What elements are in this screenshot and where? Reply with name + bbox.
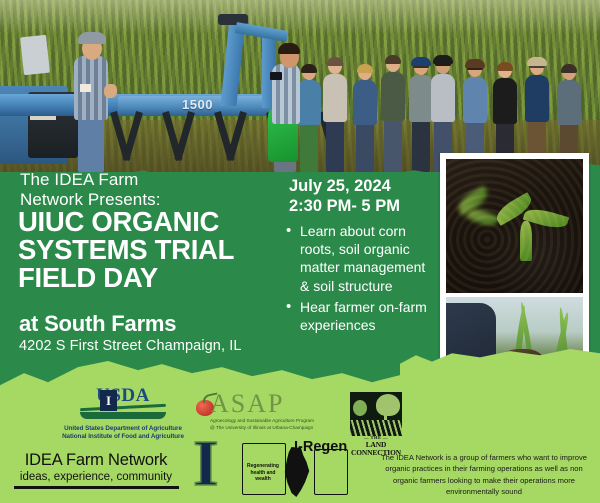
attendee-legs bbox=[300, 122, 318, 172]
attendee-cap bbox=[527, 57, 547, 66]
asap-block-i-letter: I bbox=[106, 393, 111, 409]
tree-icon bbox=[376, 394, 400, 416]
speaker-legs bbox=[78, 114, 104, 172]
plowed-field-icon bbox=[350, 420, 402, 436]
attendee-hair bbox=[301, 64, 317, 73]
event-highlight-item: Hear farmer on-farm experiences bbox=[286, 298, 436, 334]
attendee-cap bbox=[433, 55, 453, 64]
usda-agency-line2: National Institute of Food and Agricultu… bbox=[62, 433, 184, 441]
event-title: UIUC ORGANIC SYSTEMS TRIAL FIELD DAY bbox=[18, 208, 308, 292]
attendee-hair bbox=[327, 57, 343, 66]
network-description: The IDEA Network is a group of farmers w… bbox=[372, 452, 596, 498]
attendee-cap bbox=[411, 57, 431, 66]
attendee-hair bbox=[385, 55, 401, 64]
attendee-figure bbox=[352, 54, 378, 172]
presenter-intro: The IDEA Farm Network Presents: bbox=[20, 170, 270, 210]
seedling-leaf-right bbox=[523, 205, 569, 232]
attendee-figure bbox=[380, 44, 406, 172]
attendee-torso bbox=[431, 74, 455, 122]
speaker-name-badge bbox=[80, 84, 91, 92]
asap-wordmark: ASAP bbox=[196, 391, 316, 417]
indiana-outline-icon bbox=[314, 449, 348, 495]
seedling-stem bbox=[520, 221, 532, 261]
idea-farm-network-logo: IDEA Farm Network ideas, experience, com… bbox=[6, 451, 186, 489]
asap-block-i-icon: I bbox=[100, 390, 117, 411]
attendee-torso bbox=[353, 80, 377, 125]
presenter-intro-line1: The IDEA Farm bbox=[20, 170, 270, 190]
implement-shank bbox=[174, 111, 195, 161]
usda-wordmark: USDA bbox=[62, 386, 184, 405]
attendee-legs bbox=[326, 119, 344, 172]
speaker-hand bbox=[104, 84, 117, 98]
asap-logo: ASAP Agroecology and Sustainable Agricul… bbox=[196, 391, 316, 431]
event-title-line2: SYSTEMS TRIAL bbox=[18, 236, 308, 264]
venue-name: at South Farms bbox=[19, 311, 309, 337]
attendee-figure bbox=[322, 46, 348, 172]
attendee-hair bbox=[497, 62, 513, 71]
hero-photo: 1500 bbox=[0, 0, 600, 172]
idea-farm-network-tagline: ideas, experience, community bbox=[6, 471, 186, 483]
attendee-cap bbox=[465, 59, 485, 68]
attendee-torso bbox=[381, 72, 405, 121]
photographer-hair bbox=[278, 43, 300, 54]
usda-logo: USDA United States Department of Agricul… bbox=[62, 386, 184, 441]
corn-seedling-photo bbox=[446, 159, 583, 293]
seedling-leaf-blurred-a bbox=[455, 185, 492, 216]
iregen-logo: I-Regen Regenerating health and wealth bbox=[242, 437, 362, 499]
speaker-cap-icon bbox=[78, 32, 106, 44]
implement-shank bbox=[122, 111, 143, 161]
attendee-legs bbox=[384, 118, 402, 172]
attendee-hair bbox=[357, 64, 373, 73]
field-sign bbox=[20, 35, 50, 76]
attendee-torso bbox=[323, 74, 347, 122]
usda-agency-line1: United States Department of Agriculture bbox=[62, 425, 184, 433]
attendee-hair bbox=[561, 64, 577, 73]
speaker-figure bbox=[70, 22, 112, 172]
attendee-torso bbox=[463, 77, 487, 123]
idea-farm-network-title: IDEA Farm Network bbox=[6, 451, 186, 470]
poster-root: 1500 The IDEA Farm Network Presents: UIU… bbox=[0, 0, 600, 503]
attendee-torso bbox=[493, 78, 517, 124]
photographer-figure bbox=[268, 22, 302, 172]
attendee-legs bbox=[356, 122, 374, 172]
attendee-legs bbox=[412, 120, 430, 172]
divider-rule bbox=[14, 486, 179, 489]
event-highlights-list: Learn about corn roots, soil organic mat… bbox=[286, 222, 436, 337]
asap-program-line1: Agroecology and Sustainable Agriculture … bbox=[196, 418, 316, 425]
land-connection-illustration bbox=[350, 392, 402, 436]
attendee-torso bbox=[557, 80, 581, 125]
implement-shank bbox=[226, 111, 247, 161]
implement-model-number: 1500 bbox=[182, 97, 213, 112]
attendee-torso bbox=[525, 75, 549, 122]
iregen-tagline: Regenerating health and wealth bbox=[244, 463, 282, 483]
seedling-leaf-left bbox=[493, 192, 536, 226]
event-title-line1: UIUC ORGANIC bbox=[18, 208, 308, 236]
land-connection-logo: — THE — LAND CONNECTION bbox=[350, 392, 402, 456]
illinois-block-i-logo: I bbox=[193, 438, 237, 492]
tree-small-icon bbox=[353, 400, 367, 416]
venue-address: 4202 S First Street Champaign, IL bbox=[19, 338, 319, 354]
event-title-line3: FIELD DAY bbox=[18, 264, 308, 292]
event-time: 2:30 PM- 5 PM bbox=[289, 196, 439, 216]
usda-swoosh-icon bbox=[80, 406, 166, 421]
event-datetime: July 25, 2024 2:30 PM- 5 PM bbox=[289, 176, 439, 216]
phone-icon bbox=[270, 72, 282, 80]
seedling-leaf-blurred-b bbox=[467, 206, 500, 229]
iregen-wordmark: I-Regen bbox=[294, 439, 347, 455]
event-highlight-item: Learn about corn roots, soil organic mat… bbox=[286, 222, 436, 295]
event-date: July 25, 2024 bbox=[289, 176, 439, 196]
